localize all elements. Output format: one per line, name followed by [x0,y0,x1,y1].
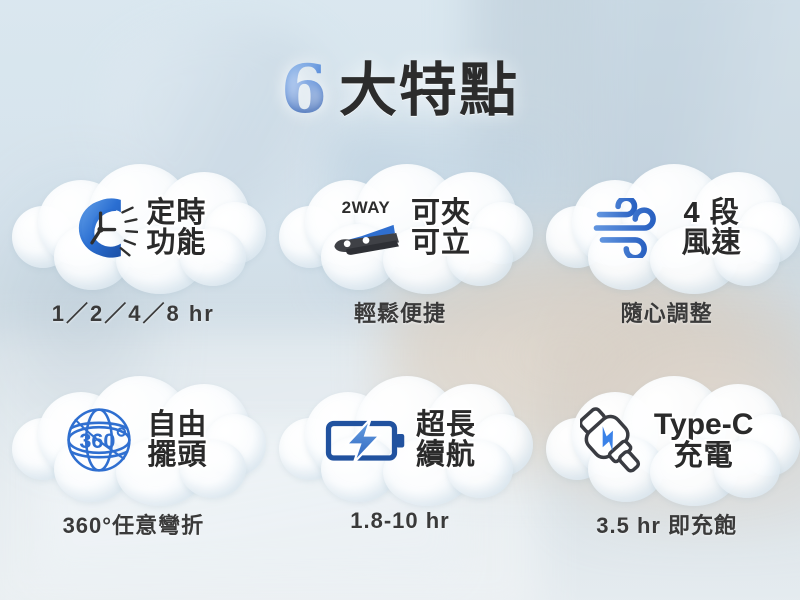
feature-label: 超長 續航 [416,410,476,470]
title-text: 大特點 [339,62,519,120]
feature-label: 可夾 可立 [411,198,471,258]
feature-card-battery: 超長 續航 1.8-10 hr [267,374,534,564]
two-way-tag: 2WAY [342,198,391,218]
feature-card-clip: 2WAY 可夾 可立 [267,162,534,352]
feature-label: Type-C 充電 [654,409,753,470]
usb-type-c-plug-icon [580,401,646,479]
feature-caption: 1／2／4／8 hr [52,296,215,328]
feature-label: 4 段 風速 [682,198,742,258]
timer-clock-icon [60,189,138,267]
title-number: 6 [281,56,329,122]
feature-caption: 隨心調整 [621,296,713,328]
battery-bolt-icon [324,413,408,467]
clip-icon-group: 2WAY [329,198,403,259]
feature-caption: 360°任意彎折 [63,508,205,540]
feature-card-timer: 定時 功能 1／2／4／8 hr [0,162,267,352]
feature-label-line-1: 4 段 [684,198,740,228]
globe-360-icon: 360 [59,400,139,480]
feature-label: 定時 功能 [146,198,206,258]
feature-label-line-2: 可立 [411,228,471,258]
cloud-badge: 2WAY 可夾 可立 [275,162,525,294]
feature-card-wind: 4 段 風速 隨心調整 [533,162,800,352]
feature-card-typec: Type-C 充電 3.5 hr 即充飽 [533,374,800,564]
feature-label-line-1: Type-C [654,409,753,440]
feature-label-line-2: 續航 [416,440,476,470]
feature-caption: 3.5 hr 即充飽 [596,508,737,540]
cloud-badge: 360 自由 擺頭 [8,374,258,506]
infographic-poster: 6 大特點 [0,0,800,600]
clothespin-clip-icon [329,219,403,259]
feature-grid: 定時 功能 1／2／4／8 hr 2WAY [0,162,800,564]
feature-label-line-1: 定時 [146,198,206,228]
feature-label-line-2: 功能 [146,228,206,258]
page-title: 6 大特點 [0,58,800,124]
cloud-badge: 超長 續航 [275,374,525,506]
feature-card-oscillation: 360 自由 擺頭 360°任意彎折 [0,374,267,564]
cloud-badge: 定時 功能 [8,162,258,294]
feature-label-line-1: 可夾 [411,198,471,228]
feature-label-line-1: 自由 [147,410,207,440]
cloud-badge: Type-C 充電 [542,374,792,506]
feature-caption: 1.8-10 hr [350,508,450,534]
feature-label-line-2: 擺頭 [147,440,207,470]
feature-label-line-2: 風速 [682,228,742,258]
wind-speed-icon [592,198,674,258]
svg-text:360: 360 [80,428,116,453]
feature-label-line-2: 充電 [674,441,734,471]
feature-caption: 輕鬆便捷 [354,296,446,328]
cloud-badge: 4 段 風速 [542,162,792,294]
feature-label-line-1: 超長 [416,410,476,440]
feature-label: 自由 擺頭 [147,410,207,470]
